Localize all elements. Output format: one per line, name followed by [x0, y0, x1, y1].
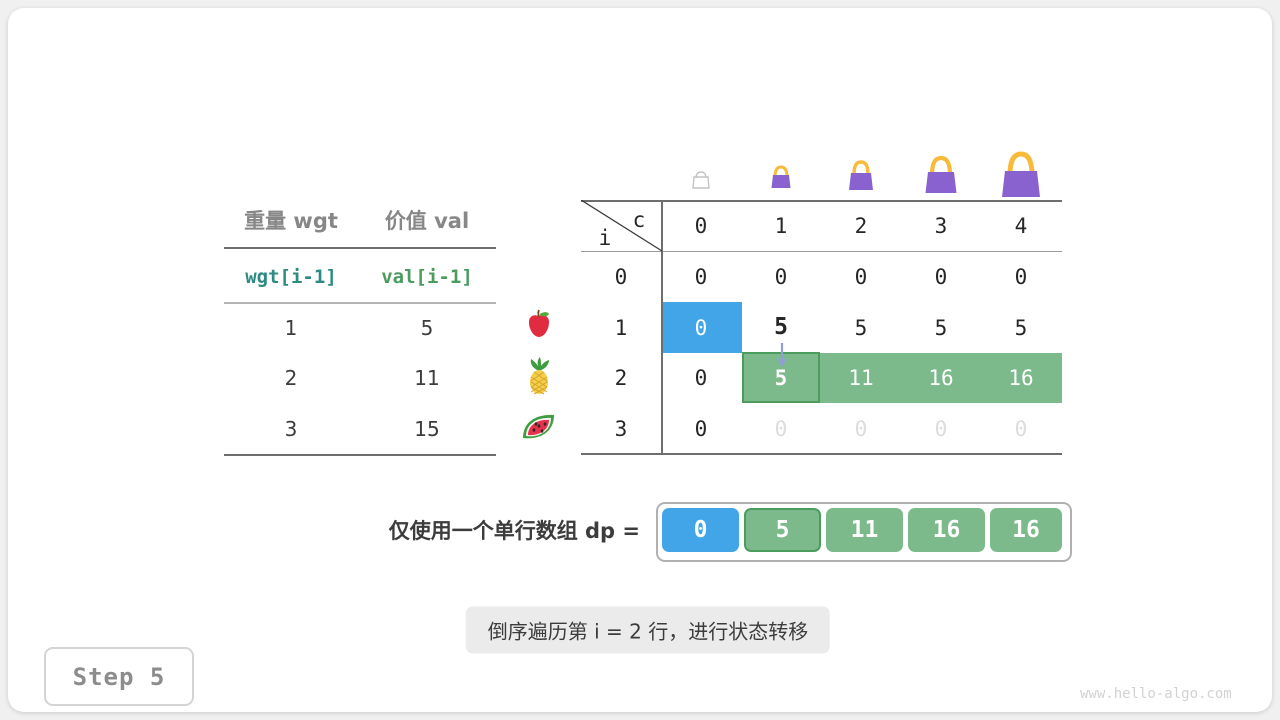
bag-icon-capacity-0	[691, 168, 711, 194]
matrix-col-header-3: 3	[935, 214, 948, 238]
matrix-row-header-0: 0	[615, 265, 628, 289]
matrix-cell-1-4: 5	[1015, 316, 1028, 340]
item-table-subheader-wgt: wgt[i-1]	[245, 266, 337, 288]
matrix-row-header-3: 3	[615, 417, 628, 441]
dp-array-label: 仅使用一个单行数组 dp =	[389, 515, 640, 545]
matrix-row-header-1: 1	[615, 316, 628, 340]
pineapple-icon	[522, 357, 556, 399]
item-wgt-3: 3	[285, 417, 298, 441]
matrix-row-header-2: 2	[615, 366, 628, 390]
dp-array-cell-1[interactable]: 5	[744, 508, 821, 552]
matrix-cell-0-0: 0	[695, 265, 708, 289]
slide-card: 重量 wgt 价值 val wgt[i-1] val[i-1] 1 5 2 11…	[8, 8, 1272, 712]
bag-icon-capacity-3	[921, 151, 961, 200]
matrix-cell-1-2: 5	[855, 316, 868, 340]
matrix-col-header-2: 2	[855, 214, 868, 238]
item-table-rule-bottom	[224, 454, 496, 456]
matrix-cell-3-1: 0	[775, 417, 788, 441]
dp-array-cell-3[interactable]: 16	[908, 508, 985, 552]
matrix-col-header-1: 1	[775, 214, 788, 238]
bag-icon-capacity-4	[996, 145, 1046, 204]
item-val-2: 11	[414, 366, 439, 390]
bag-icon-capacity-1	[768, 161, 794, 194]
apple-icon	[522, 308, 556, 346]
matrix-cell-1-0: 0	[695, 316, 708, 340]
dp-array-cell-4[interactable]: 16	[990, 508, 1062, 552]
watermark: www.hello-algo.com	[1080, 686, 1232, 702]
item-table-rule-top	[224, 247, 496, 249]
item-wgt-2: 2	[285, 366, 298, 390]
caption-text: 倒序遍历第 i = 2 行，进行状态转移	[466, 607, 830, 654]
item-val-1: 5	[421, 316, 434, 340]
matrix-cell-3-0: 0	[695, 417, 708, 441]
matrix-cell-2-4: 16	[1008, 366, 1033, 390]
item-table-header-wgt: 重量 wgt	[244, 205, 338, 235]
matrix-cell-0-4: 0	[1015, 265, 1028, 289]
matrix-cell-0-3: 0	[935, 265, 948, 289]
item-table-subheader-val: val[i-1]	[381, 266, 473, 288]
matrix-cell-3-3: 0	[935, 417, 948, 441]
matrix-corner-label-c: c	[633, 208, 646, 232]
watermelon-icon	[520, 412, 558, 446]
matrix-cell-2-2: 11	[848, 366, 873, 390]
matrix-rule-bottom	[581, 453, 1062, 455]
item-wgt-1: 1	[285, 316, 298, 340]
transition-arrow-icon	[774, 342, 790, 368]
dp-array-cell-0[interactable]: 0	[662, 508, 739, 552]
matrix-cell-1-1: 5	[774, 314, 788, 340]
matrix-cell-0-2: 0	[855, 265, 868, 289]
step-badge: Step 5	[44, 647, 194, 706]
matrix-cell-3-2: 0	[855, 417, 868, 441]
bag-icon-capacity-2	[845, 156, 877, 196]
matrix-col-header-0: 0	[695, 214, 708, 238]
matrix-cell-2-3: 16	[928, 366, 953, 390]
dp-array-cell-2[interactable]: 11	[826, 508, 903, 552]
matrix-corner-diagonal-icon	[581, 200, 663, 252]
matrix-cell-1-3: 5	[935, 316, 948, 340]
item-table-header-val: 价值 val	[385, 205, 469, 235]
matrix-cell-2-0: 0	[695, 366, 708, 390]
matrix-cell-3-4: 0	[1015, 417, 1028, 441]
matrix-cell-0-1: 0	[775, 265, 788, 289]
matrix-col-header-4: 4	[1015, 214, 1028, 238]
matrix-corner-label-i: i	[599, 226, 612, 250]
item-val-3: 15	[414, 417, 439, 441]
item-table-rule-mid	[224, 302, 496, 304]
matrix-cell-2-1: 5	[775, 366, 788, 390]
